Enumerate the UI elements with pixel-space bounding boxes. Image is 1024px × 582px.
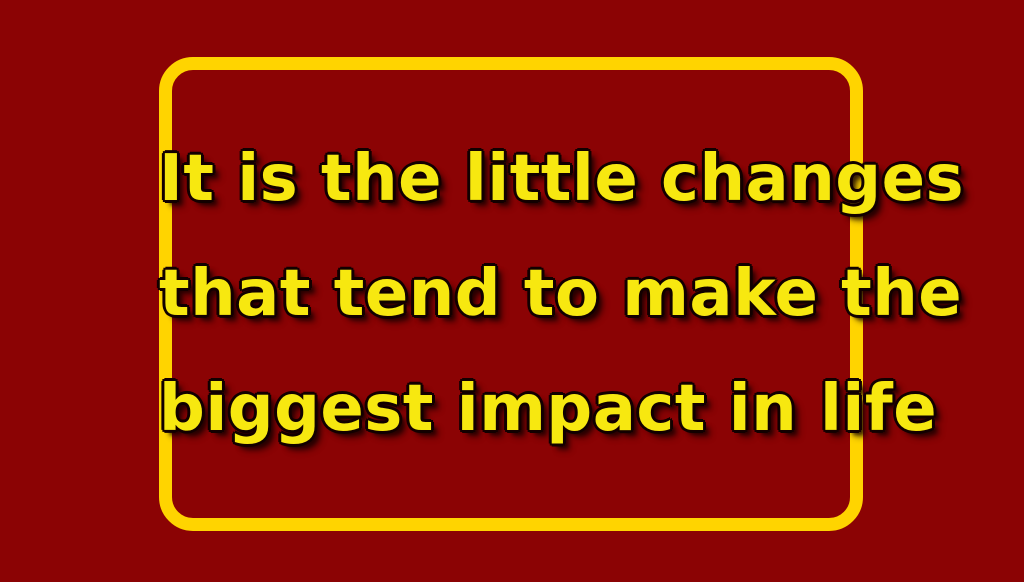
quote-text-block: It is the little changes that tend to ma… [159, 57, 863, 531]
quote-card: It is the little changes that tend to ma… [0, 0, 1024, 582]
quote-line-3: biggest impact in life [159, 352, 863, 467]
quote-line-1: It is the little changes [159, 122, 863, 237]
quote-line-2: that tend to make the [159, 237, 863, 352]
